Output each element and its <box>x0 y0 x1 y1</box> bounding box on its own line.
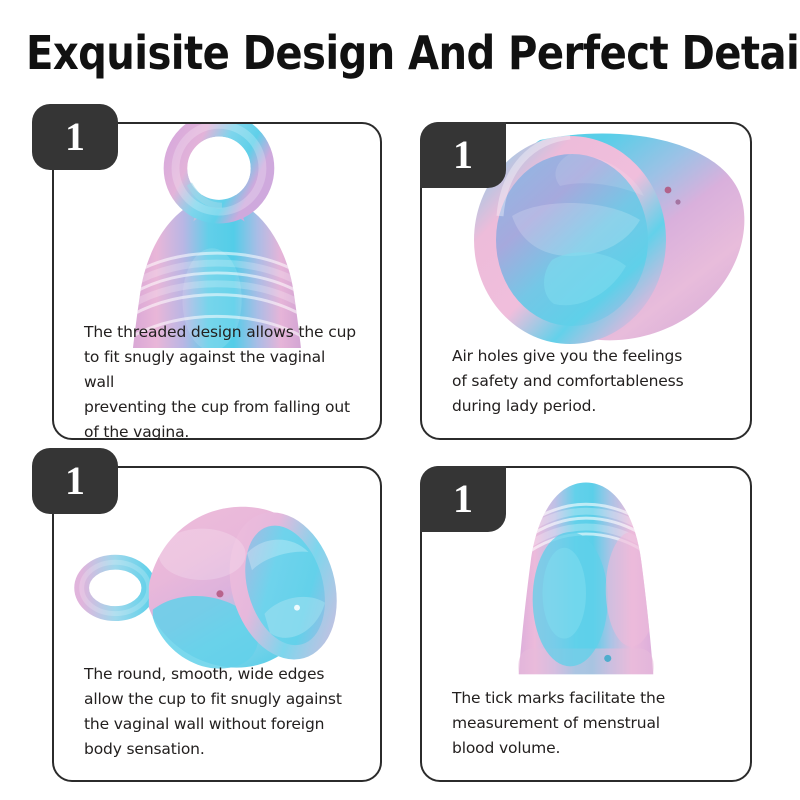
caption-line: during lady period. <box>452 394 728 419</box>
step-badge-4: 1 <box>420 466 506 532</box>
feature-caption-1: The threaded design allows the cup to fi… <box>54 320 380 438</box>
caption-line: to fit snugly against the vaginal wall <box>84 345 358 395</box>
step-badge-1: 1 <box>32 104 118 170</box>
feature-card-3: The round, smooth, wide edges allow the … <box>52 466 382 782</box>
caption-line: The round, smooth, wide edges <box>84 662 358 687</box>
feature-caption-3: The round, smooth, wide edges allow the … <box>54 662 380 780</box>
feature-caption-4: The tick marks facilitate the measuremen… <box>422 686 750 780</box>
feature-card-grid: The threaded design allows the cup to fi… <box>52 122 752 782</box>
caption-line: Air holes give you the feelings <box>452 344 728 369</box>
feature-card-1: The threaded design allows the cup to fi… <box>52 122 382 440</box>
caption-line: blood volume. <box>452 736 728 761</box>
step-badge-2: 1 <box>420 122 506 188</box>
caption-line: measurement of menstrual <box>452 711 728 736</box>
caption-line: preventing the cup from falling out <box>84 395 358 420</box>
step-badge-3: 1 <box>32 448 118 514</box>
caption-line: allow the cup to fit snugly against <box>84 687 358 712</box>
caption-line: of safety and comfortableness <box>452 369 728 394</box>
infographic-page: Exquisite Design And Perfect Details <box>0 0 800 800</box>
feature-card-4: The tick marks facilitate the measuremen… <box>420 466 752 782</box>
caption-line: of the vagina. <box>84 420 358 445</box>
feature-card-2: Air holes give you the feelings of safet… <box>420 122 752 440</box>
caption-line: The threaded design allows the cup <box>84 320 358 345</box>
feature-caption-2: Air holes give you the feelings of safet… <box>422 344 750 438</box>
caption-line: the vaginal wall without foreign <box>84 712 358 737</box>
caption-line: body sensation. <box>84 737 358 762</box>
caption-line: The tick marks facilitate the <box>452 686 728 711</box>
page-title: Exquisite Design And Perfect Details <box>26 27 763 79</box>
